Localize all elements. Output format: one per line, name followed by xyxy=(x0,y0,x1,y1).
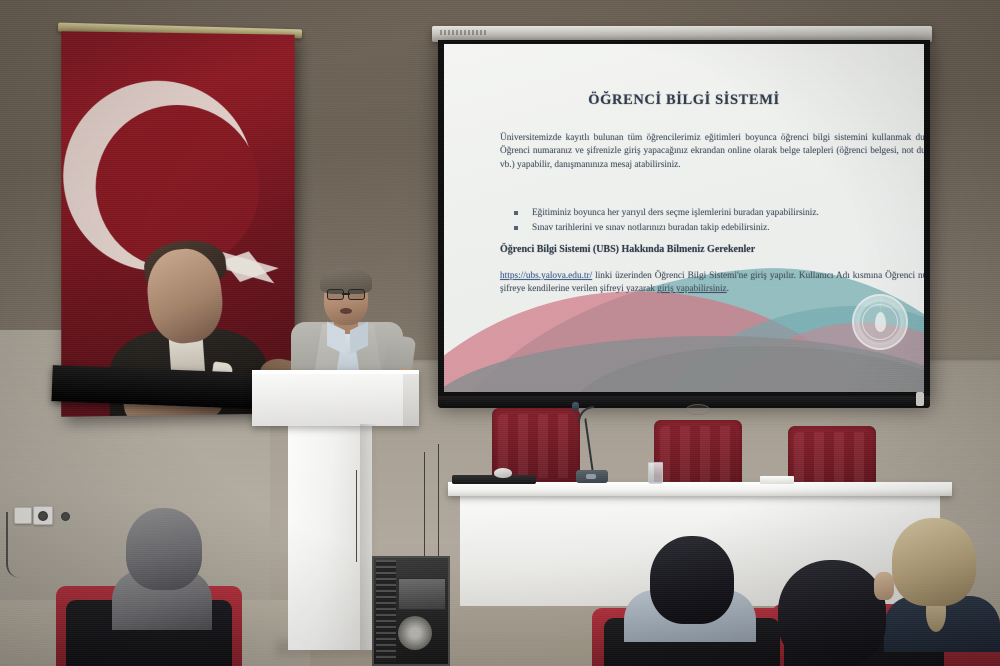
audience-headscarf-left xyxy=(126,508,202,590)
power-cable xyxy=(6,512,20,578)
slide-paragraph: Üniversitemizde kayıtlı bulunan tüm öğre… xyxy=(500,132,924,172)
audience-blonde-right xyxy=(892,518,976,606)
ceiling-speaker xyxy=(686,404,710,415)
screen-bottom-weight-bar xyxy=(438,396,930,408)
glasses-bridge xyxy=(342,293,350,295)
microphone-button[interactable] xyxy=(586,474,596,479)
outlet-socket-hole xyxy=(61,512,70,521)
outlet-socket-hole xyxy=(38,511,48,521)
screen-pull-tab xyxy=(916,392,924,406)
lectern-top-edge xyxy=(252,370,419,374)
seal-ring-text xyxy=(854,296,906,348)
list-item: Eğitiminiz boyunca her yarıyıl ders seçm… xyxy=(510,206,924,221)
audience-dark-hair-center xyxy=(650,536,734,624)
rack-cable xyxy=(424,452,425,558)
speaker-mouth xyxy=(340,308,352,314)
speaker-glasses xyxy=(327,289,365,298)
housing-brand-label xyxy=(440,30,488,35)
audience-dark-hair-right xyxy=(778,560,886,666)
slide-footer-text: https://ubs.yalova.edu.tr/ linki üzerind… xyxy=(500,270,924,297)
presentation-slide: ÖĞRENCİ BİLGİ SİSTEMİ Üniversitemizde ka… xyxy=(444,44,924,392)
mouse[interactable] xyxy=(494,468,512,478)
screen-surface: ÖĞRENCİ BİLGİ SİSTEMİ Üniversitemizde ka… xyxy=(444,44,924,392)
panel-desk-top xyxy=(448,482,952,496)
list-item: Sınav tarihlerini ve sınav notlarınızı b… xyxy=(510,221,924,236)
slide-hyperlink[interactable]: https://ubs.yalova.edu.tr/ xyxy=(500,271,592,281)
keyboard[interactable] xyxy=(452,475,536,484)
rack-ventilation-grill xyxy=(376,560,396,662)
presentation-hall-scene: ÖĞRENCİ BİLGİ SİSTEMİ Üniversitemizde ka… xyxy=(0,0,1000,666)
microphone-head xyxy=(572,402,579,411)
lectern xyxy=(252,370,419,426)
slide-subheading: Öğrenci Bilgi Sistemi (UBS) Hakkında Bil… xyxy=(500,244,924,255)
rack-cable xyxy=(356,470,357,562)
water-glass xyxy=(648,462,663,484)
university-seal-logo xyxy=(852,294,908,350)
slide-bullet-list: Eğitiminiz boyunca her yarıyıl ders seçm… xyxy=(510,206,924,235)
turkish-flag-ataturk-banner xyxy=(61,31,294,416)
projection-screen: ÖĞRENCİ BİLGİ SİSTEMİ Üniversitemizde ka… xyxy=(438,40,930,402)
slide-footer-part2: . xyxy=(727,284,729,294)
audience-hand xyxy=(874,572,894,600)
rack-device xyxy=(398,578,446,610)
slide-footer-emphasis: giriş yapabilirsiniz xyxy=(657,284,726,294)
podium-side-panel xyxy=(403,374,419,426)
slide-title: ÖĞRENCİ BİLGİ SİSTEMİ xyxy=(444,92,924,109)
paper-stack xyxy=(760,476,794,484)
rack-fan-disc xyxy=(398,616,432,650)
rack-cable xyxy=(438,444,439,558)
